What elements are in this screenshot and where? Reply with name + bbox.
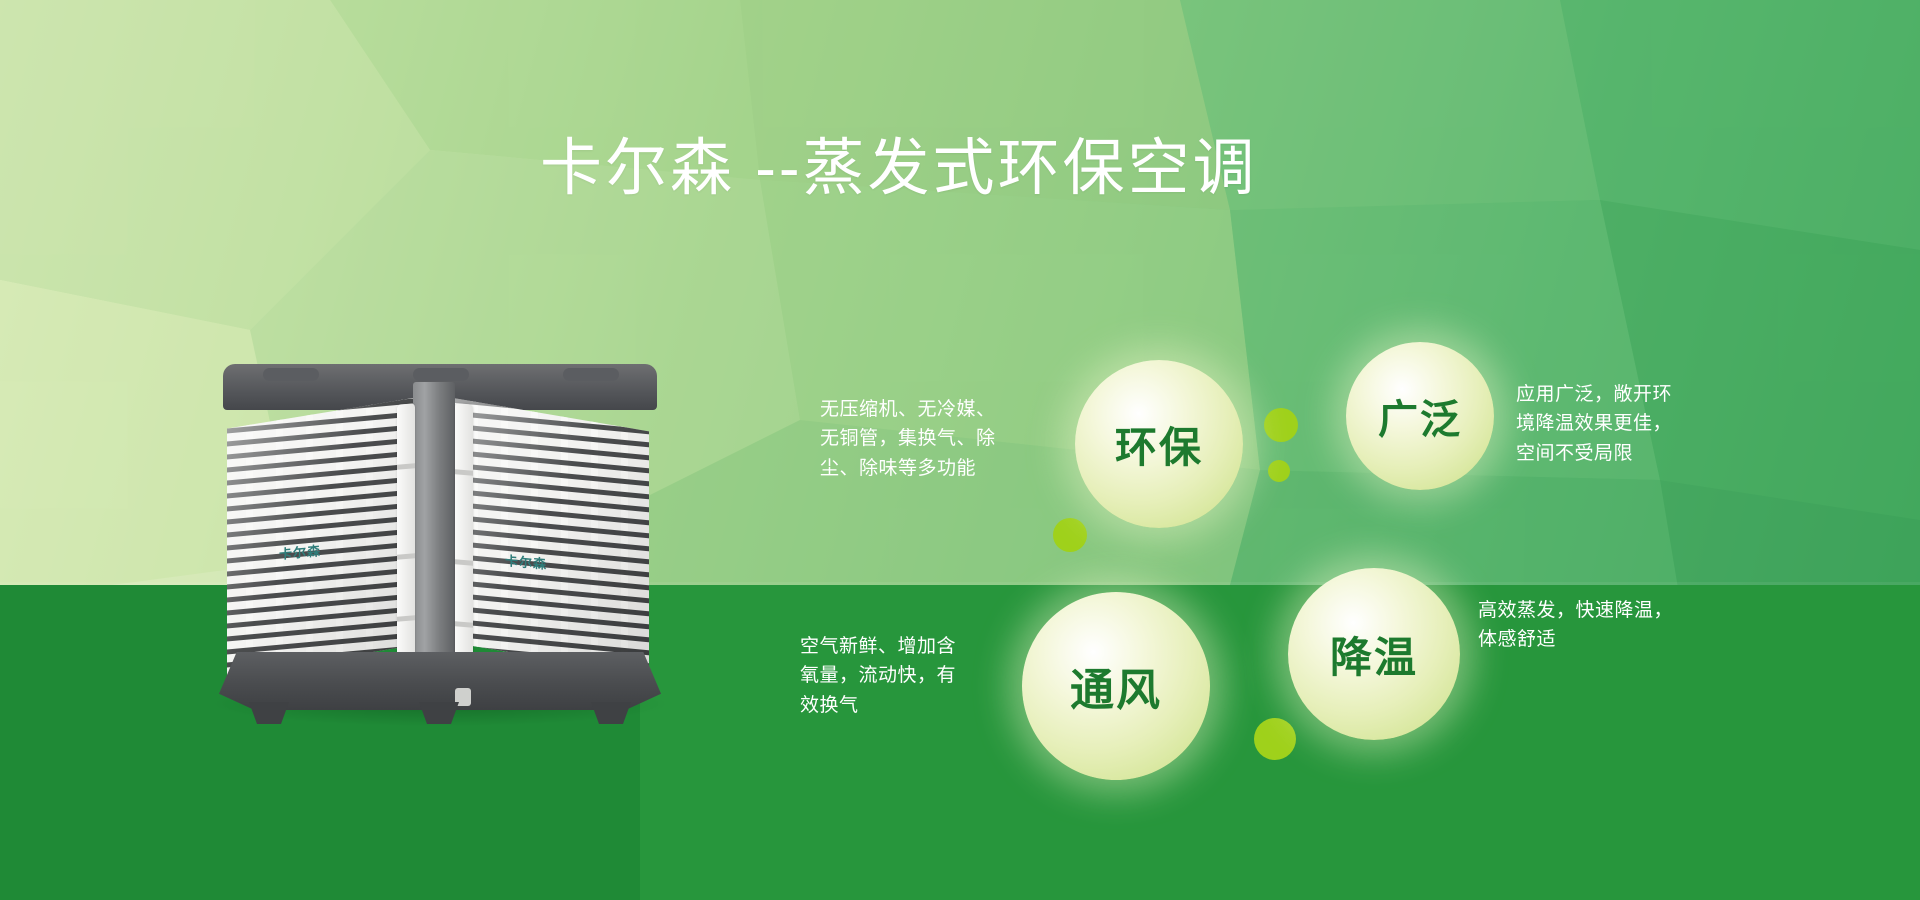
accent-dot-small-upper <box>1268 460 1290 482</box>
accent-dot-middle <box>1053 518 1087 552</box>
unit-foot-center <box>419 702 459 724</box>
feature-caption-jiangwen: 高效蒸发，快速降温， 体感舒适 <box>1478 596 1758 655</box>
latch-mark <box>455 469 473 476</box>
promo-banner: 卡尔森 --蒸发式环保空调 <box>0 0 1920 900</box>
accent-dot-lower <box>1254 718 1296 760</box>
unit-latch-strip-left <box>397 403 415 681</box>
latch-mark <box>455 559 473 566</box>
accent-dot-large-upper <box>1264 408 1298 442</box>
air-cooler-unit: 卡尔森 卡尔森 <box>205 352 675 724</box>
unit-panel-left <box>227 398 413 676</box>
feature-bubble-huanbao[interactable]: 环保 <box>1075 360 1243 528</box>
product-brand-label-left: 卡尔森 <box>279 540 321 563</box>
unit-foot-left <box>249 702 289 724</box>
product-brand-label-right: 卡尔森 <box>505 550 547 573</box>
feature-bubble-tongfeng[interactable]: 通风 <box>1022 592 1210 780</box>
cap-nub-center <box>413 368 469 381</box>
unit-latch-strip-right <box>455 403 473 681</box>
feature-caption-huanbao: 无压缩机、无冷媒、 无铜管，集换气、除 尘、除味等多功能 <box>820 395 1060 483</box>
latch-mark <box>397 553 415 560</box>
feature-bubble-jiangwen[interactable]: 降温 <box>1288 568 1460 740</box>
feature-bubble-guangfan[interactable]: 广泛 <box>1346 342 1494 490</box>
product-image: 卡尔森 卡尔森 <box>205 352 675 752</box>
cap-nub-left <box>263 368 319 381</box>
page-title: 卡尔森 --蒸发式环保空调 <box>540 138 1258 200</box>
unit-panel-right <box>453 398 649 676</box>
latch-mark <box>397 463 415 470</box>
louver-grille-right <box>453 398 649 676</box>
feature-caption-guangfan: 应用广泛，敞开环 境降温效果更佳， 空间不受局限 <box>1516 380 1756 468</box>
cap-nub-right <box>563 368 619 381</box>
latch-mark <box>397 615 415 622</box>
unit-corner-post <box>413 382 455 690</box>
unit-foot-right <box>591 702 631 724</box>
unit-base <box>219 652 661 710</box>
louver-grille-left <box>227 398 413 676</box>
feature-caption-tongfeng: 空气新鲜、增加含 氧量，流动快，有 效换气 <box>800 632 1030 720</box>
latch-mark <box>455 621 473 628</box>
